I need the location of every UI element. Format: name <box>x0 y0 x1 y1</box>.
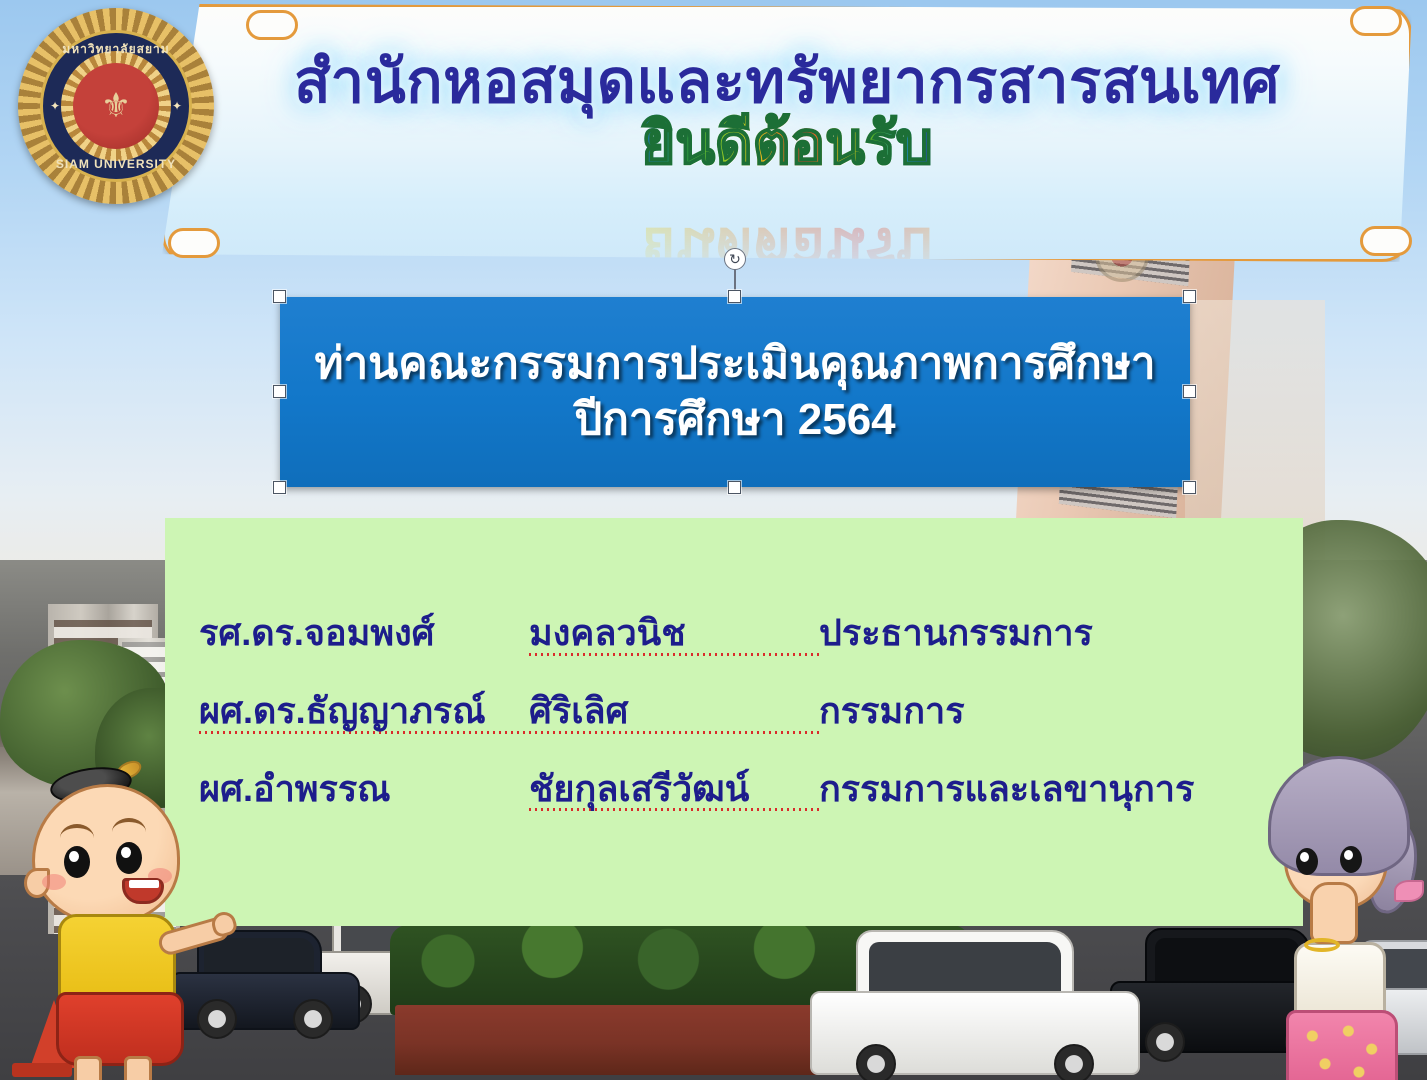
girl-wai-hands <box>1310 882 1358 944</box>
roster-name-title: ผศ.อำพรรณ <box>199 770 529 808</box>
blue-title-box[interactable]: ท่านคณะกรรมการประเมินคุณภาพการศึกษา ปีกา… <box>280 297 1190 487</box>
selection-handle-middle-left[interactable] <box>273 385 286 398</box>
seal-bottom-text: SIAM UNIVERSITY <box>43 157 189 171</box>
scroll-curl-top-left <box>246 10 298 40</box>
selection-handle-bottom-center[interactable] <box>728 481 741 494</box>
seal-emblem-icon: ⚜ <box>73 63 159 149</box>
selection-handle-bottom-right[interactable] <box>1183 481 1196 494</box>
girl-eye <box>1340 846 1362 873</box>
parked-car-white <box>810 930 1140 1075</box>
thai-girl-cartoon <box>1262 752 1422 1080</box>
boy-shirt <box>58 914 176 1000</box>
selection-handle-middle-right[interactable] <box>1183 385 1196 398</box>
boy-cheek <box>42 874 66 890</box>
scroll-banner: สำนักหอสมุดและทรัพยากรสารสนเทศ ยินดีต้อน… <box>162 4 1412 262</box>
blue-box-line1: ท่านคณะกรรมการประเมินคุณภาพการศึกษา <box>314 338 1155 390</box>
selection-handle-top-right[interactable] <box>1183 290 1196 303</box>
roster-row: ผศ.ดร.ธัญญาภรณ์ ศิริเลิศ กรรมการ <box>199 692 1269 734</box>
seal-star-icon: ✦ <box>172 99 182 113</box>
banner-title-line1: สำนักหอสมุดและทรัพยากรสารสนเทศ <box>294 51 1280 112</box>
boy-leg <box>124 1056 152 1080</box>
roster-role: กรรมการและเลขานุการ <box>819 770 1269 808</box>
roster-row: ผศ.อำพรรณ ชัยกุลเสรีวัฒน์ กรรมการและเลขา… <box>199 770 1269 812</box>
seal-top-text: มหาวิทยาลัยสยาม <box>43 40 189 59</box>
banner-title-line2: ยินดีต้อนรับ <box>641 114 932 173</box>
roster-role: กรรมการ <box>819 692 1269 730</box>
girl-top <box>1294 942 1386 1018</box>
committee-roster-panel[interactable]: รศ.ดร.จอมพงศ์ มงคลวนิช ประธานกรรมการ ผศ.… <box>165 518 1303 926</box>
presentation-slide: สำนักหอสมุดและทรัพยากรสารสนเทศ ยินดีต้อน… <box>0 0 1427 1080</box>
roster-row: รศ.ดร.จอมพงศ์ มงคลวนิช ประธานกรรมการ <box>199 614 1269 656</box>
boy-eye <box>116 842 142 874</box>
roster-surname: ชัยกุลเสรีวัฒน์ <box>529 770 819 812</box>
boy-sarong <box>56 992 184 1066</box>
boy-head <box>32 784 180 924</box>
girl-hair <box>1268 756 1410 876</box>
boy-eye <box>64 846 90 878</box>
scroll-curl-top-right <box>1350 6 1402 36</box>
roster-name-title: ผศ.ดร.ธัญญาภรณ์ <box>199 692 529 734</box>
siam-university-seal-icon: มหาวิทยาลัยสยาม ✦ ✦ ⚜ SIAM UNIVERSITY <box>18 8 214 204</box>
blue-box-line2: ปีการศึกษา 2564 <box>574 394 895 446</box>
selection-handle-top-center[interactable] <box>728 290 741 303</box>
roster-name-title: รศ.ดร.จอมพงศ์ <box>199 614 529 652</box>
scroll-curl-bottom-left <box>168 228 220 258</box>
boy-leg <box>74 1056 102 1080</box>
scroll-curl-bottom-right <box>1360 226 1412 256</box>
girl-bangle <box>1304 938 1340 952</box>
selection-handle-top-left[interactable] <box>273 290 286 303</box>
roster-surname: ศิริเลิศ <box>529 692 819 734</box>
roster-surname: มงคลวนิช <box>529 614 819 656</box>
girl-hair-bow <box>1394 880 1424 902</box>
girl-skirt <box>1286 1010 1398 1080</box>
seal-star-icon: ✦ <box>50 99 60 113</box>
thai-boy-cartoon <box>12 756 222 1076</box>
selection-handle-bottom-left[interactable] <box>273 481 286 494</box>
committee-roster-list: รศ.ดร.จอมพงศ์ มงคลวนิช ประธานกรรมการ ผศ.… <box>199 614 1269 811</box>
roster-role: ประธานกรรมการ <box>819 614 1269 652</box>
rotation-handle[interactable]: ↻ <box>724 248 746 270</box>
girl-eye <box>1296 848 1318 875</box>
